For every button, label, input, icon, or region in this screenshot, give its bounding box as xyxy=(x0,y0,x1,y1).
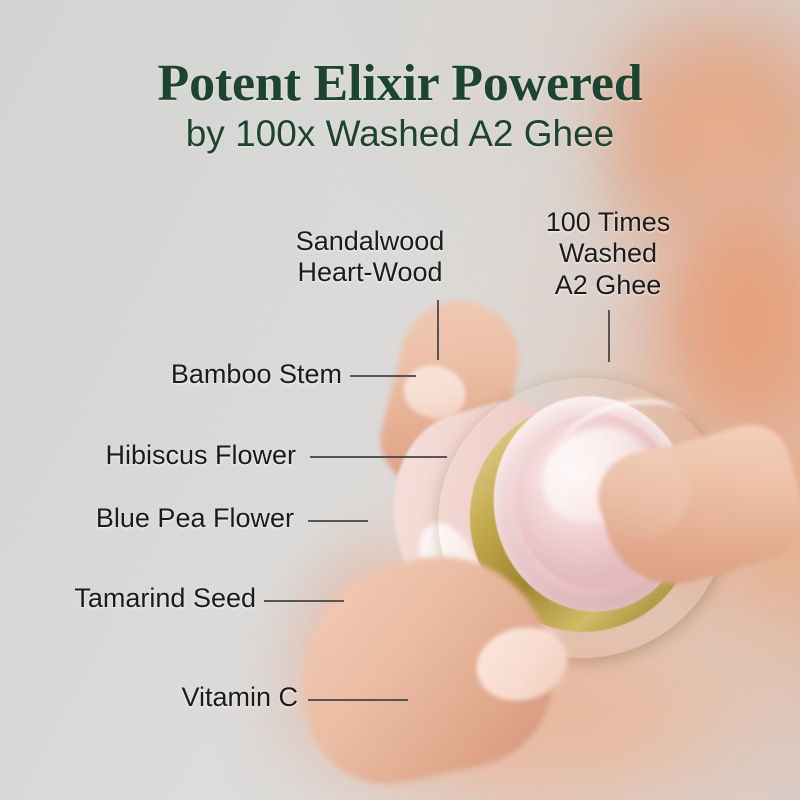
leader-line-sandalwood xyxy=(437,300,439,360)
leader-line-bluepea xyxy=(308,520,368,522)
leader-line-vitaminc xyxy=(308,699,408,701)
leader-line-bamboo xyxy=(350,375,416,377)
callout-label-vitaminc: Vitamin C xyxy=(84,682,298,713)
headline-primary: Potent Elixir Powered xyxy=(0,56,800,111)
callout-label-tamarind: Tamarind Seed xyxy=(16,583,256,614)
headline-secondary: by 100x Washed A2 Ghee xyxy=(0,114,800,155)
callout-label-bamboo: Bamboo Stem xyxy=(100,359,342,390)
leader-line-hibiscus xyxy=(310,456,447,458)
callout-label-hibiscus: Hibiscus Flower xyxy=(46,440,296,471)
callout-label-bluepea: Blue Pea Flower xyxy=(40,503,294,534)
product-infographic: Potent Elixir Powered by 100x Washed A2 … xyxy=(0,0,800,800)
leader-line-ghee xyxy=(608,310,610,362)
callout-label-ghee: 100 Times Washed A2 Ghee xyxy=(512,207,704,301)
callout-label-sandalwood: Sandalwood Heart-Wood xyxy=(256,226,484,289)
leader-line-tamarind xyxy=(264,600,344,602)
